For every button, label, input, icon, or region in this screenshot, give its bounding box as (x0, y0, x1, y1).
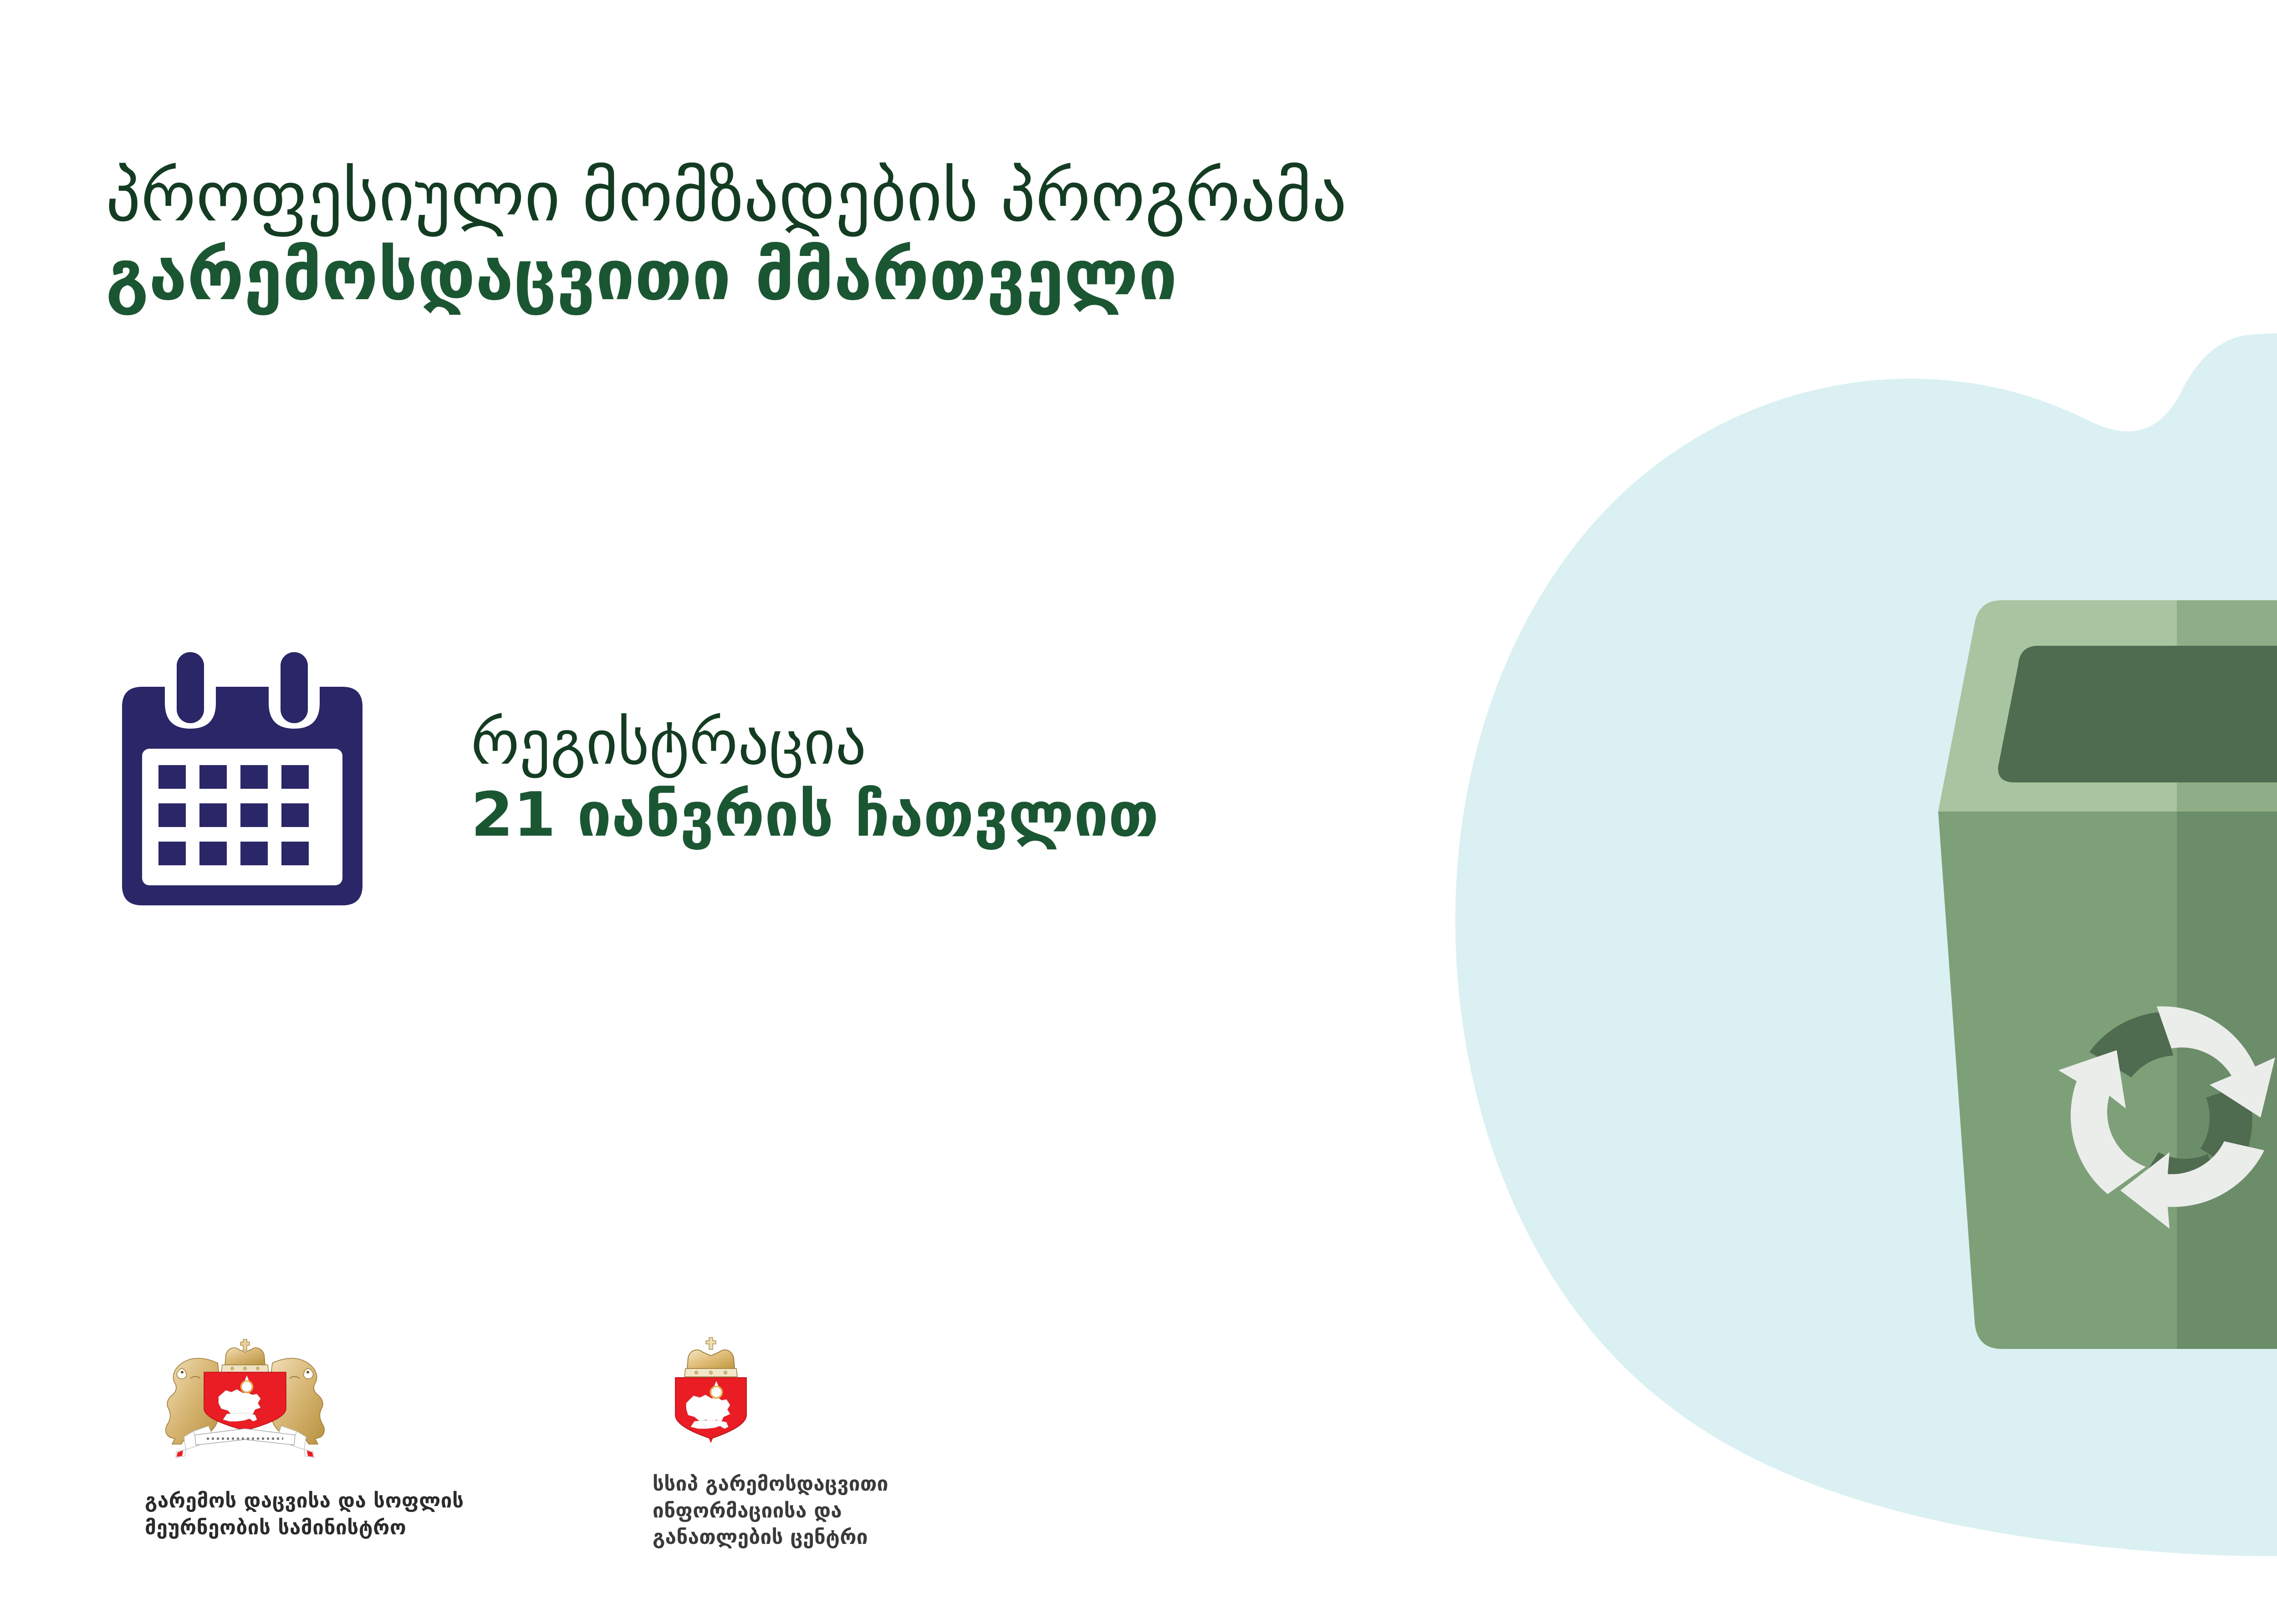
calendar-icon (115, 647, 370, 920)
logo-ministry-caption: გარემოს დაცვისა და სოფლის მეურნეობის სამ… (145, 1488, 359, 1541)
logo-center-caption: სსიპ გარემოსდაცვითი ინფორმაციისა და განა… (653, 1471, 1062, 1551)
title-line-program: პროფესიული მომზადების პროგრამა (106, 157, 1347, 236)
georgia-shield-crown-icon (665, 1337, 756, 1448)
logo-ministry: გარემოს დაცვისა და სოფლის მეურნეობის სამ… (145, 1337, 359, 1541)
registration-label: რეგისტრაცია (471, 707, 1159, 779)
logo-ministry-caption-line-2: მეურნეობის სამინისტრო (145, 1515, 359, 1542)
registration-text: რეგისტრაცია 21 იანვრის ჩათვლით (471, 707, 1159, 860)
logo-center-caption-line-1: სსიპ გარემოსდაცვითი (653, 1471, 1062, 1498)
page-title: პროფესიული მომზადების პროგრამა გარემოსდა… (106, 157, 1347, 315)
logo-center-caption-line-2: ინფორმაციისა და (653, 1498, 1062, 1525)
footer-logos: გარემოს დაცვისა და სოფლის მეურნეობის სამ… (145, 1337, 1062, 1551)
georgia-coat-of-arms-icon (145, 1337, 341, 1464)
registration-deadline: 21 იანვრის ჩათვლით (471, 779, 1159, 851)
logo-center: სსიპ გარემოსდაცვითი ინფორმაციისა და განა… (653, 1337, 1062, 1551)
registration-block: რეგისტრაცია 21 იანვრის ჩათვლით (115, 647, 1159, 920)
recycling-bin-illustration (1904, 587, 2277, 1353)
logo-center-caption-line-3: განათლების ცენტრი (653, 1524, 1062, 1551)
poster-canvas: პროფესიული მომზადების პროგრამა გარემოსდა… (0, 0, 2277, 1624)
logo-ministry-caption-line-1: გარემოს დაცვისა და სოფლის (145, 1488, 359, 1515)
title-line-subject: გარემოსდაცვითი მმართველი (106, 236, 1347, 315)
